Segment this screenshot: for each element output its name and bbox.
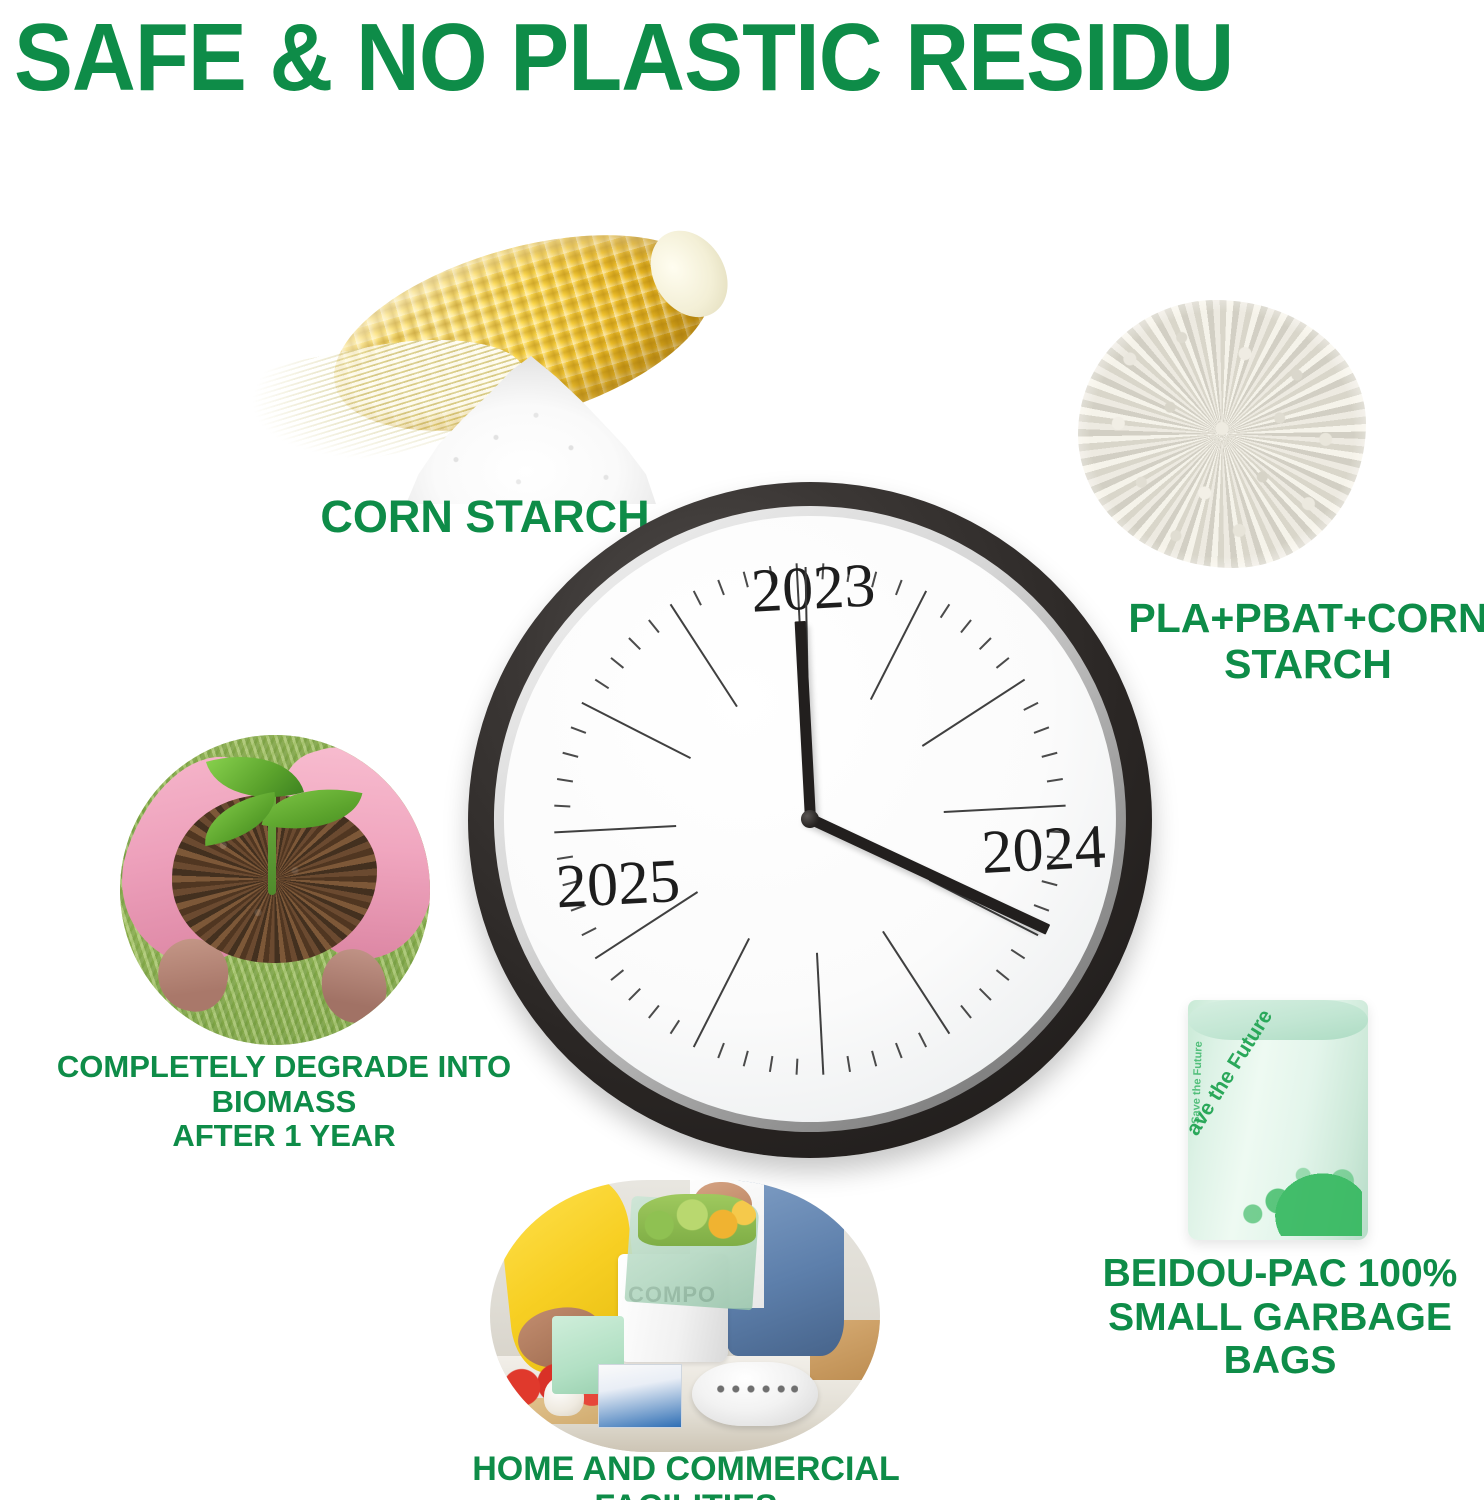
clock-minute-tick — [571, 726, 587, 734]
clock-minute-tick — [595, 679, 610, 689]
clock-minute-tick — [1042, 752, 1058, 758]
clock-hour-tick — [944, 805, 1066, 813]
lid-vent-holes — [714, 1380, 798, 1398]
clock-year-2024: 2024 — [980, 816, 1107, 884]
clock-minute-tick — [743, 1051, 749, 1067]
clock-minute-tick — [743, 571, 749, 587]
vegetable-scraps — [638, 1194, 756, 1246]
clock-hour-tick — [870, 590, 927, 700]
clock-minute-tick — [562, 752, 578, 758]
clock-minute-tick — [960, 619, 972, 633]
clock-minute-tick — [979, 988, 992, 1001]
biomass-caption: COMPLETELY DEGRADE INTO BIOMASS AFTER 1 … — [56, 1050, 512, 1154]
clock-minute-tick — [717, 580, 725, 596]
clock-minute-tick — [847, 1056, 851, 1072]
clock-minute-tick — [717, 1043, 725, 1059]
clock-minute-tick — [1011, 949, 1026, 959]
biomass-seedling-image — [120, 735, 430, 1045]
clock-minute-tick — [996, 969, 1010, 981]
product-infographic: SAFE & NO PLASTIC RESIDU CORN STARCH PLA… — [0, 0, 1484, 1500]
bin-lid — [692, 1362, 818, 1426]
clock-minute-tick — [979, 637, 992, 650]
clock-minute-tick — [960, 1005, 972, 1019]
clock-hour-hand — [794, 621, 815, 819]
clock-minute-tick — [796, 1059, 799, 1075]
clock-hour-tick — [581, 702, 691, 759]
clock-hour-tick — [816, 953, 824, 1075]
kitchen-compost-image: COMPO — [490, 1180, 880, 1452]
clock-hour-tick — [693, 938, 750, 1048]
clock-minute-tick — [693, 590, 702, 605]
clock-minute-tick — [1047, 778, 1063, 782]
clock-minute-tick — [895, 580, 903, 596]
clock-minute-tick — [918, 1032, 927, 1047]
clock-minute-tick — [610, 969, 624, 981]
clock-face: 2023 2024 2025 — [489, 500, 1132, 1137]
clock-hour-tick — [922, 679, 1025, 747]
clock-minute-tick — [554, 805, 570, 808]
clock-minute-tick — [940, 604, 950, 619]
countdown-clock: 2023 2024 2025 — [451, 465, 1169, 1176]
product-box — [598, 1364, 682, 1428]
clock-minute-tick — [557, 778, 573, 782]
clock-minute-tick — [769, 1056, 773, 1072]
clock-year-2023: 2023 — [750, 555, 877, 623]
garbage-bag-roll-image: Save the Future ave the Future — [1188, 982, 1368, 1240]
clock-minute-tick — [628, 988, 641, 1001]
clock-hour-tick — [882, 931, 950, 1034]
clock-minute-tick — [871, 1051, 877, 1067]
facilities-caption: HOME AND COMMERCIAL FACILITIES — [450, 1450, 922, 1500]
pla-pbat-caption: PLA+PBAT+CORN STARCH — [1122, 596, 1484, 688]
clock-minute-tick — [996, 657, 1010, 669]
clock-hour-tick — [554, 825, 676, 833]
resin-pellets-image — [1078, 300, 1366, 568]
corn-starch-caption: CORN STARCH — [300, 492, 670, 542]
clock-minute-tick — [610, 657, 624, 669]
roll-top-edge — [1188, 1000, 1368, 1040]
roll-earth-artwork — [1222, 1144, 1362, 1236]
clock-minute-tick — [648, 619, 660, 633]
clock-minute-tick — [670, 1020, 680, 1035]
clock-minute-tick — [581, 927, 596, 936]
roll-body: Save the Future ave the Future — [1188, 1000, 1368, 1240]
corn-tip-shape — [635, 216, 743, 331]
corn-starch-image — [228, 238, 728, 508]
clock-hour-tick — [670, 604, 738, 707]
page-title: SAFE & NO PLASTIC RESIDU — [14, 8, 1100, 108]
clock-minute-tick — [648, 1005, 660, 1019]
clock-minute-tick — [895, 1043, 903, 1059]
clock-minute-tick — [1034, 726, 1050, 734]
clock-minute-tick — [1034, 904, 1050, 912]
clock-minute-tick — [628, 637, 641, 650]
product-caption: BEIDOU-PAC 100% SMALL GARBAGE BAGS — [1080, 1252, 1480, 1383]
clock-year-2025: 2025 — [555, 850, 682, 918]
clock-minute-tick — [1023, 702, 1038, 711]
